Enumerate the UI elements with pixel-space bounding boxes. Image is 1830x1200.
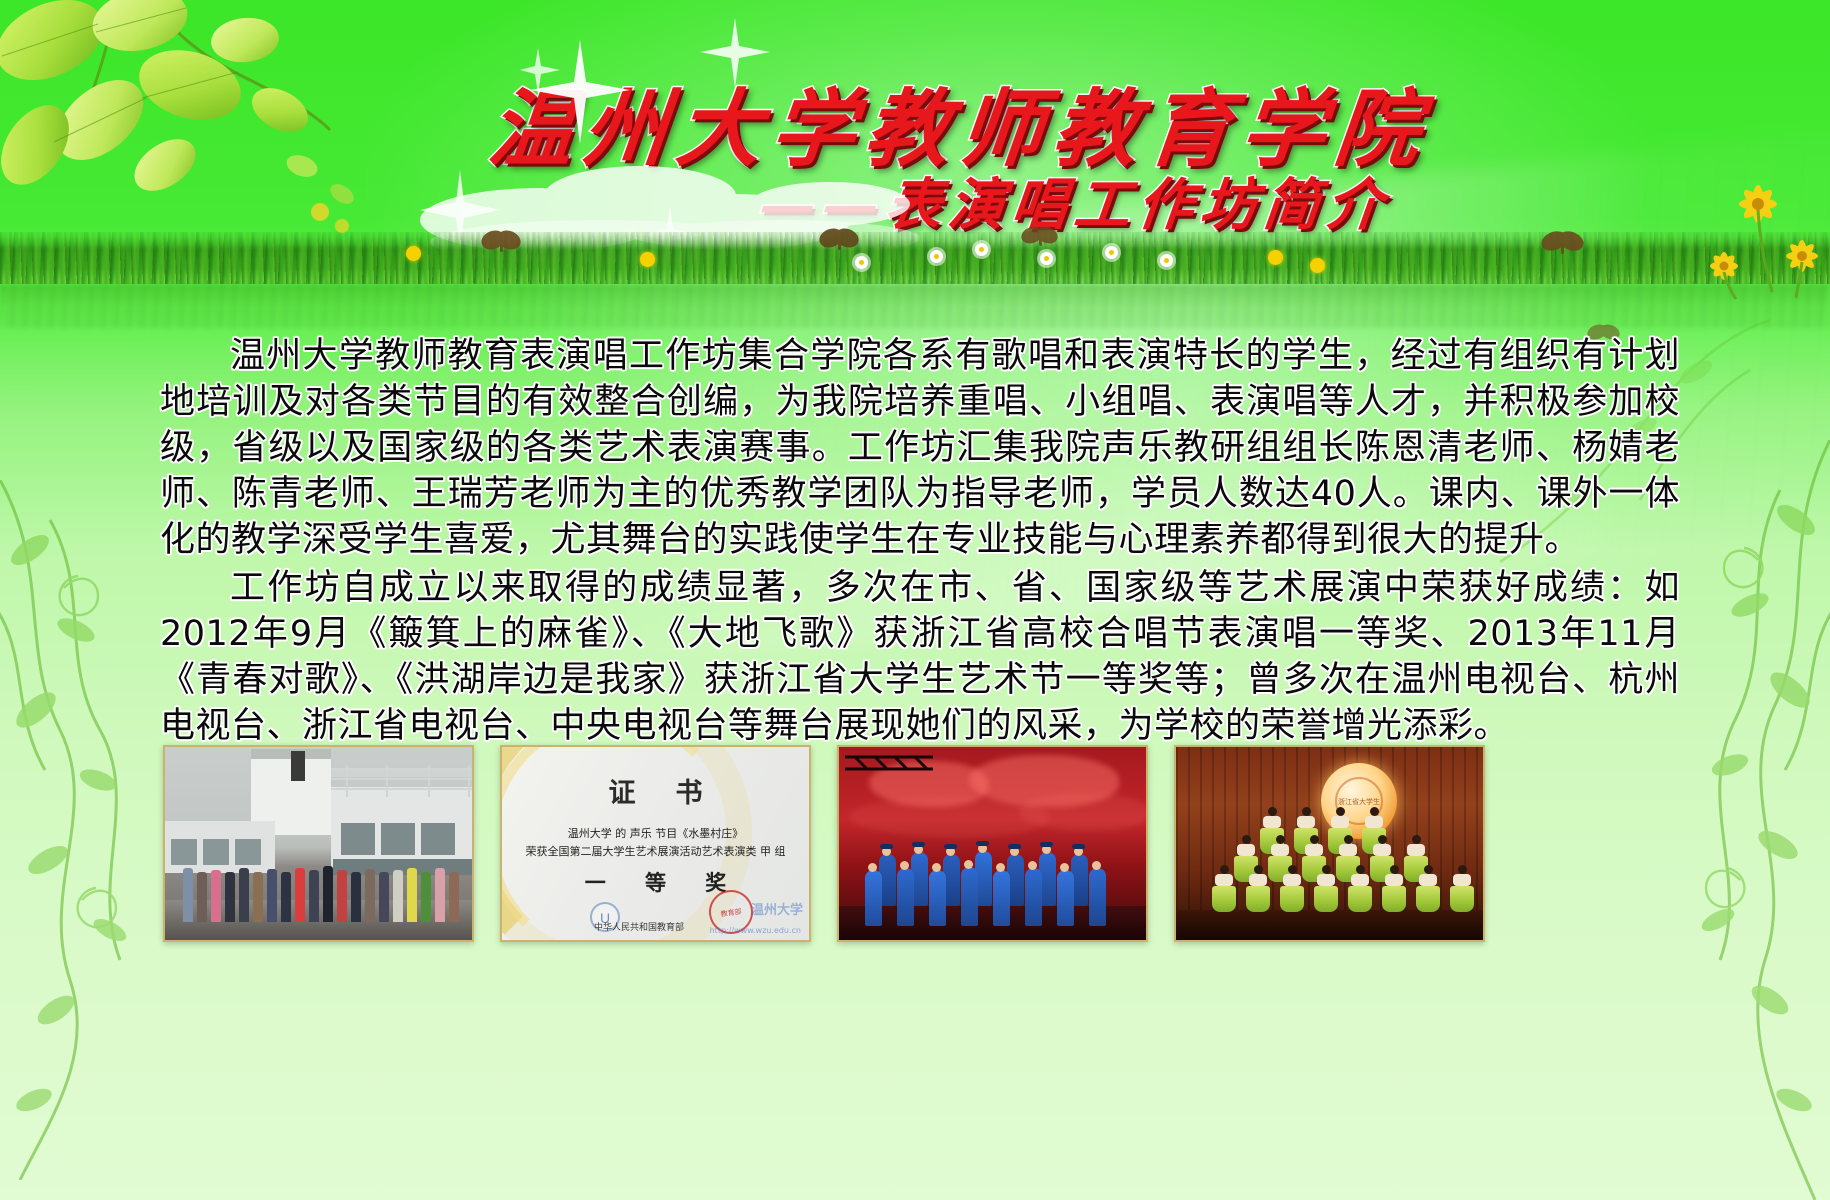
butterfly-icon [1020, 224, 1060, 252]
daisy-flower-icon [975, 243, 988, 256]
rooftop-group-photo[interactable] [163, 745, 474, 942]
certificate-watermark: 温州大学 [751, 899, 803, 918]
poster-canvas: 温州大学教师教育学院 ——表演唱工作坊简介 [0, 0, 1830, 1200]
railing-decoration [331, 765, 474, 799]
photo-strip: 证书 温州大学 的 声乐 节目《水墨村庄》 荣获全国第二届大学生艺术展演活动艺术… [163, 745, 1683, 950]
yellow-flower-icon [1310, 258, 1325, 273]
yellow-flower-icon [1268, 250, 1283, 265]
article-body: 温州大学教师教育表演唱工作坊集合学院各系有歌唱和表演特长的学生，经过有组织有计划… [160, 333, 1680, 751]
daisy-flower-icon [855, 256, 868, 269]
certificate-line-1: 温州大学 的 声乐 节目《水墨村庄》 [502, 825, 809, 841]
paragraph-2: 工作坊自成立以来取得的成绩显著，多次在市、省、国家级等艺术展演中荣获好成绩：如2… [160, 565, 1680, 749]
daisy-flower-icon [1040, 252, 1053, 265]
butterfly-icon [480, 228, 522, 258]
certificate-issuer: 中华人民共和国教育部 [594, 920, 684, 933]
certificate-title: 证书 [502, 771, 809, 810]
yellow-flower-icon [406, 246, 421, 261]
paragraph-1: 温州大学教师教育表演唱工作坊集合学院各系有歌唱和表演特长的学生，经过有组织有计划… [160, 333, 1680, 563]
poster-header: 温州大学教师教育学院 ——表演唱工作坊简介 [0, 0, 1830, 330]
grass-skirt-stage-photo[interactable]: 浙江省大学生艺术节 [1174, 745, 1485, 942]
yellow-flower-icon [640, 252, 655, 267]
daisy-flower-icon [930, 250, 943, 263]
stage-truss-icon [845, 751, 935, 791]
certificate-url: http://www.wzu.edu.cn [710, 926, 801, 935]
certificate-photo[interactable]: 证书 温州大学 的 声乐 节目《水墨村庄》 荣获全国第二届大学生艺术展演活动艺术… [500, 745, 811, 942]
red-stage-dance-photo[interactable] [837, 745, 1148, 942]
yellow-daisy-cluster [1690, 170, 1830, 300]
certificate-line-2: 荣获全国第二届大学生艺术展演活动艺术表演类 甲 组 [502, 843, 809, 859]
daisy-flower-icon [1160, 254, 1173, 267]
butterfly-icon [818, 226, 860, 256]
daisy-flower-icon [1105, 246, 1118, 259]
certificate-grade: 一 等 奖 [502, 867, 809, 897]
butterfly-icon [1540, 228, 1584, 260]
